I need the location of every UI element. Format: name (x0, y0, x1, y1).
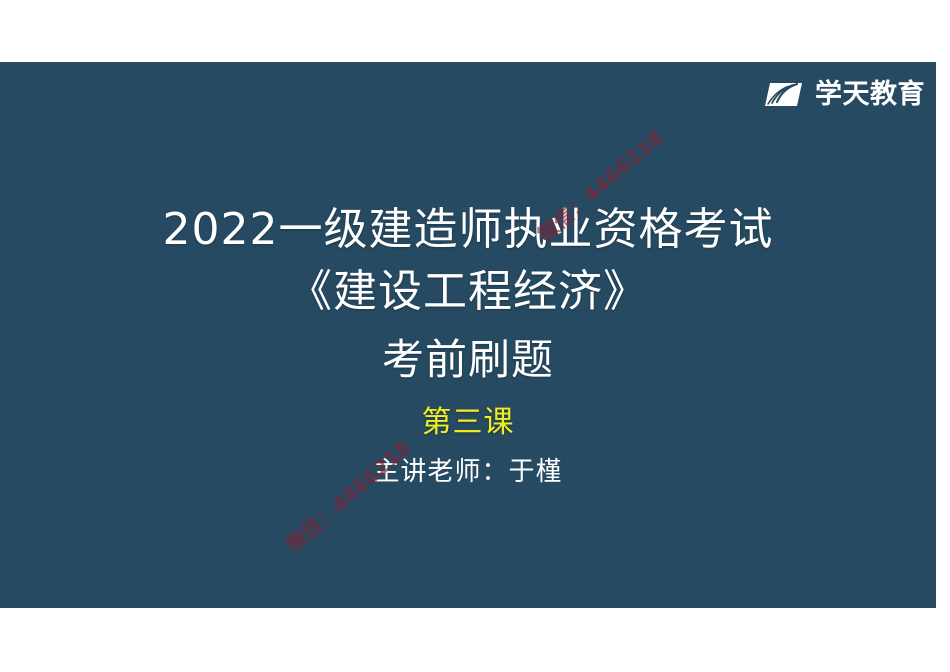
slide-canvas: 学天教育 微信：4466218 微信：4466218 2022一级建造师执业资格… (0, 0, 950, 672)
course-title-line-2: 《建设工程经济》 (288, 263, 648, 321)
course-title-line-1: 2022一级建造师执业资格考试 (163, 201, 774, 259)
course-title-line-3: 考前刷题 (382, 331, 554, 389)
instructor-line: 主讲老师：于槿 (373, 455, 562, 489)
title-panel: 学天教育 微信：4466218 微信：4466218 2022一级建造师执业资格… (0, 62, 936, 608)
title-text-stack: 2022一级建造师执业资格考试 《建设工程经济》 考前刷题 第三课 主讲老师：于… (0, 62, 936, 608)
lesson-number-label: 第三课 (422, 403, 515, 443)
